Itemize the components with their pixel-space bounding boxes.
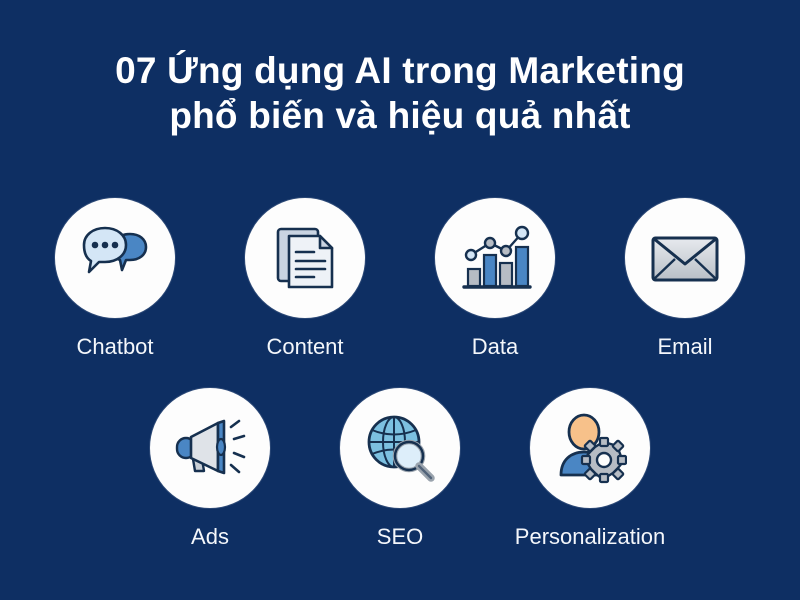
icon-row-two: Ads (0, 388, 800, 550)
item-personalization[interactable]: Personalization (530, 388, 650, 550)
icon-row-one: Chatbot (0, 198, 800, 360)
circle-ads[interactable] (150, 388, 270, 508)
label-personalization: Personalization (460, 524, 720, 550)
item-data[interactable]: Data (435, 198, 555, 360)
infographic-poster: 07 Ứng dụng AI trong Marketing phổ biến … (0, 0, 800, 600)
label-data: Data (472, 334, 518, 360)
envelope-icon (648, 221, 722, 295)
circle-data[interactable] (435, 198, 555, 318)
globe-search-icon (363, 411, 437, 485)
circle-seo[interactable] (340, 388, 460, 508)
label-chatbot: Chatbot (76, 334, 153, 360)
item-ads[interactable]: Ads (150, 388, 270, 550)
item-chatbot[interactable]: Chatbot (55, 198, 175, 360)
label-ads: Ads (191, 524, 229, 550)
circle-personalization[interactable] (530, 388, 650, 508)
bar-chart-icon (458, 221, 532, 295)
chat-bubbles-icon (78, 221, 152, 295)
label-seo: SEO (377, 524, 423, 550)
user-gear-icon (553, 411, 627, 485)
title-line-1: 07 Ứng dụng AI trong Marketing (0, 48, 800, 93)
item-content[interactable]: Content (245, 198, 365, 360)
page-title: 07 Ứng dụng AI trong Marketing phổ biến … (0, 48, 800, 138)
label-content: Content (266, 334, 343, 360)
item-email[interactable]: Email (625, 198, 745, 360)
item-seo[interactable]: SEO (340, 388, 460, 550)
documents-icon (268, 221, 342, 295)
circle-content[interactable] (245, 198, 365, 318)
label-email: Email (657, 334, 712, 360)
title-line-2: phổ biến và hiệu quả nhất (0, 93, 800, 138)
circle-email[interactable] (625, 198, 745, 318)
megaphone-icon (173, 411, 247, 485)
circle-chatbot[interactable] (55, 198, 175, 318)
